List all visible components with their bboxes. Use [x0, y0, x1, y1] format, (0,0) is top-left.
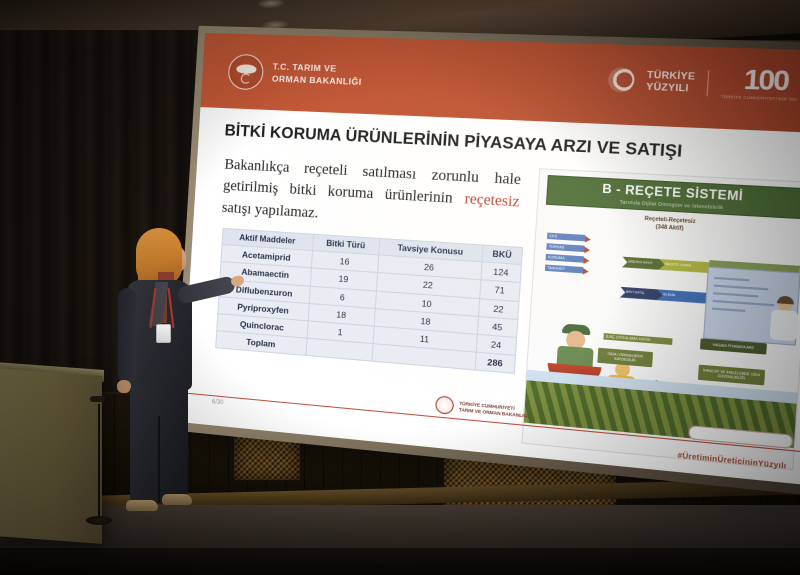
ministry-crest-icon	[227, 54, 264, 91]
chip-cks: ÇKS	[547, 233, 585, 242]
ministry-line-2: ORMAN BAKANLIĞI	[272, 73, 362, 88]
trouser-seam	[158, 416, 160, 502]
chip-turkab: TÜRKAB	[546, 243, 584, 252]
floor-foreground-shadow	[0, 548, 800, 575]
slide-content: T.C. TARIM VE ORMAN BAKANLIĞI TÜRKİYE YÜ…	[181, 33, 800, 486]
ministry-logo-text: T.C. TARIM VE ORMAN BAKANLIĞI	[272, 61, 363, 87]
presentation-room-photo: T.C. TARIM VE ORMAN BAKANLIĞI TÜRKİYE YÜ…	[0, 0, 800, 575]
turkiye-yuzyili-text: TÜRKİYE YÜZYILI	[646, 69, 696, 94]
monitor-row	[713, 292, 758, 298]
paragraph-after: satışı yapılamaz.	[221, 199, 319, 221]
monitor-row	[714, 285, 769, 291]
centennial-subtitle: TÜRKİYE CUMHURİYETİ'NİN 100. YILI	[721, 95, 800, 103]
projection-screen: T.C. TARIM VE ORMAN BAKANLIĞI TÜRKİYE YÜ…	[181, 33, 800, 486]
slide-body: BİTKİ KORUMA ÜRÜNLERİNİN PİYASAYA ARZI V…	[181, 107, 800, 485]
monitor-row	[714, 277, 750, 282]
clerk-body-icon	[770, 310, 799, 342]
chip-ilac-uygulama-kaydi: İLAÇ UYGULAMA KAYDI	[603, 333, 672, 345]
active-substances-table: Aktif Maddeler Bitki Türü Tavsiye Konusu…	[215, 228, 523, 374]
green-box-ihracat: İHRACAT VE İHALELERDE GIDA GÜVENİLİRLİĞİ	[698, 365, 765, 386]
monitor-row	[712, 307, 745, 312]
microphone-stand	[98, 404, 100, 520]
chip-koruma: KORUMA	[546, 254, 584, 263]
presenter-shoe-left	[126, 500, 158, 511]
paragraph-highlight: reçetesiz	[464, 191, 520, 211]
id-badge	[156, 324, 171, 343]
slide-title: BİTKİ KORUMA ÜRÜNLERİNİN PİYASAYA ARZI V…	[224, 122, 683, 162]
centennial-logo: 100 TÜRKİYE CUMHURİYETİ'NİN 100. YILI	[721, 67, 800, 102]
microphone-base	[86, 516, 112, 525]
ceiling-light-icon	[258, 0, 284, 9]
slide-paragraph: Bakanlıkça reçeteli satılması zorunlu ha…	[221, 154, 521, 237]
ministry-logo: T.C. TARIM VE ORMAN BAKANLIĞI	[227, 54, 363, 94]
arrow-right-icon	[583, 268, 589, 275]
presenter-left-arm	[118, 288, 136, 384]
logo-divider	[707, 70, 710, 96]
presenter-right-arm-pointing	[176, 275, 236, 305]
brand-line-2: YÜZYILI	[646, 81, 695, 94]
arrow-right-icon	[583, 257, 589, 264]
centennial-number: 100	[743, 68, 789, 95]
presenter-left-hand	[117, 380, 131, 393]
chip-taahhut: TAAHHÜT	[545, 264, 583, 273]
infographic-canvas: ÇKS TÜRKAB KORUMA TAAHHÜT	[524, 226, 800, 448]
footer-crest-icon	[435, 395, 454, 414]
monitor-title-bar	[709, 260, 800, 272]
clerk-illustration	[770, 297, 799, 341]
footer-hashtag: #ÜretiminÜreticininYüzyılı	[677, 452, 786, 470]
monitor-row	[713, 300, 775, 307]
presenter-person	[112, 228, 232, 518]
arrow-right-icon	[584, 247, 590, 254]
arrow-right-icon	[585, 236, 591, 243]
crescent-moon-icon	[607, 67, 635, 93]
cell-total-value: 286	[475, 352, 516, 373]
recete-sistemi-infographic: B - REÇETE SİSTEMİ Tarımda Dijital Dönüş…	[521, 168, 800, 470]
brand-line-1: TÜRKİYE	[647, 69, 696, 82]
footer-crest-text: TÜRKİYE CUMHURİYETİ TARIM VE ORMAN BAKAN…	[459, 400, 530, 418]
presenter-shoe-right	[162, 494, 192, 505]
microphone-head-icon	[90, 396, 105, 402]
brand-logos: TÜRKİYE YÜZYILI 100 TÜRKİYE CUMHURİYETİ'…	[607, 64, 800, 103]
